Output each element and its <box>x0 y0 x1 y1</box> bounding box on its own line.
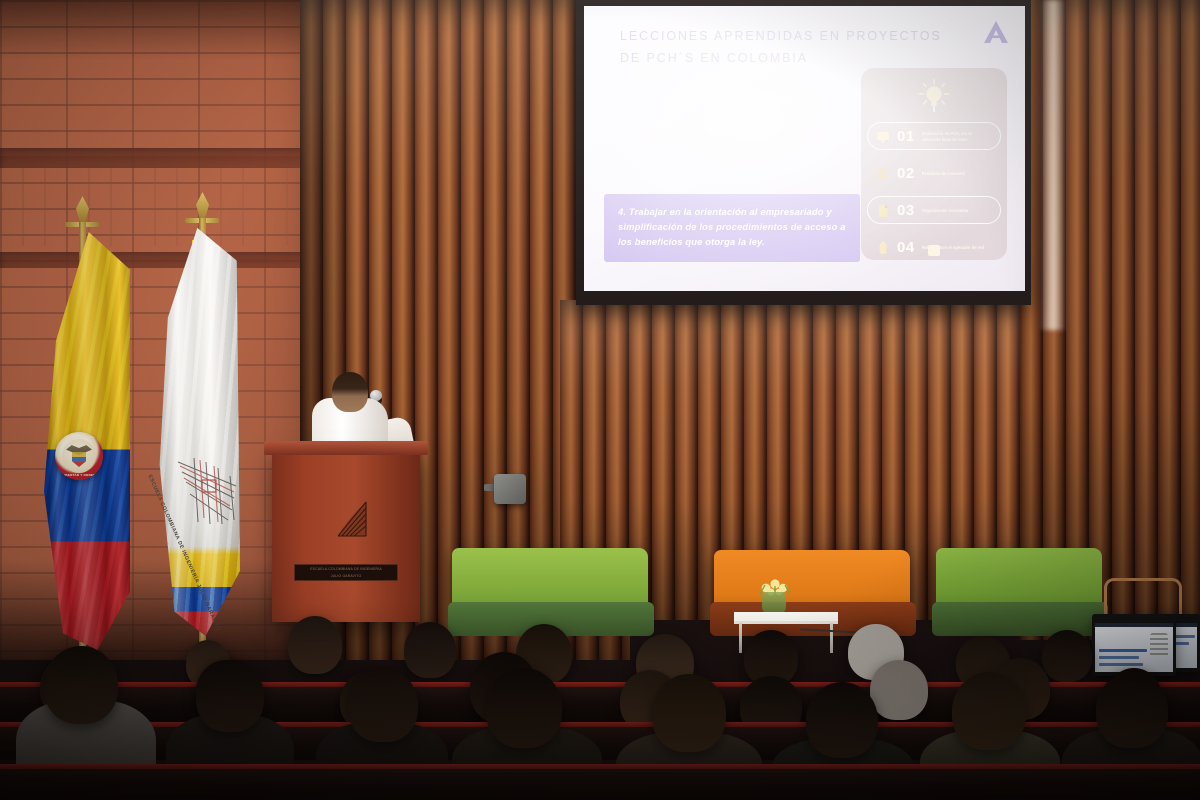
laptop-primary[interactable] <box>1092 614 1176 676</box>
bench-orange <box>714 550 910 610</box>
wall-light-column <box>1040 0 1066 330</box>
step-label: Evaluación de PCH, sin la adecuada línea… <box>922 131 986 143</box>
audience-head <box>196 660 264 732</box>
colombia-coat-of-arms: REPUBLICA DE COLOMBIA LIBERTAD Y ORDEN <box>55 432 103 480</box>
audience-head <box>1042 630 1092 682</box>
infographic-step: 02 Permisos de conexión <box>867 157 1001 190</box>
projection-screen: LECCIONES APRENDIDAS EN PROYECTOS DE PCH… <box>584 6 1025 291</box>
lattice-truss-logo <box>176 452 242 526</box>
audience-head <box>404 622 456 678</box>
lightbulb-icon <box>917 78 951 116</box>
brick-band-upper <box>0 148 330 168</box>
table-leg <box>830 623 833 653</box>
presenter-head <box>332 372 368 412</box>
coat-of-arms-top-text: REPUBLICA DE COLOMBIA <box>55 435 103 439</box>
projection-screen-frame: LECCIONES APRENDIDAS EN PROYECTOS DE PCH… <box>576 0 1031 305</box>
photograph-scene: LECCIONES APRENDIDAS EN PROYECTOS DE PCH… <box>0 0 1200 800</box>
laptop-stand <box>1104 578 1182 618</box>
step-label: Organización normativa <box>922 208 969 214</box>
bench-backrest <box>936 548 1102 610</box>
step-label: Permisos de conexión <box>922 171 965 177</box>
infographic-step: 03 Organización normativa <box>867 194 1001 227</box>
flower-vase <box>762 592 786 614</box>
podium-nameplate-line1: ESCUELA COLOMBIANA DE INGENIERIA <box>295 565 397 572</box>
audience-head <box>652 674 726 752</box>
audience-head <box>806 682 878 758</box>
lattice-truss-logo <box>336 498 370 540</box>
table-leg <box>739 623 742 653</box>
audience-head <box>952 672 1026 750</box>
infographic-step: 01 Evaluación de PCH, sin la adecuada lí… <box>867 120 1001 153</box>
monitor-icon <box>876 130 890 144</box>
bench-backrest <box>452 548 648 610</box>
podium-nameplate-line2: JULIO GARAVITO <box>295 572 397 579</box>
laptop-content-row <box>1099 663 1143 666</box>
step-number: 03 <box>897 203 915 218</box>
pipeline-icon <box>876 167 890 181</box>
slide-title: LECCIONES APRENDIDAS EN PROYECTOS DE PCH… <box>620 26 950 70</box>
coat-of-arms-bottom-text: LIBERTAD Y ORDEN <box>55 473 103 477</box>
projector-screen-crank <box>494 474 526 504</box>
podium-nameplate: ESCUELA COLOMBIANA DE INGENIERIA JULIO G… <box>294 564 398 581</box>
plug-icon <box>928 245 940 256</box>
battery-icon <box>876 241 890 255</box>
step-number: 04 <box>897 240 915 255</box>
audience-head <box>348 668 418 742</box>
slide-callout-text: 4. Trabajar en la orientación al empresa… <box>618 204 847 250</box>
brick-soldier-course <box>0 168 330 246</box>
bench-green-right <box>936 548 1102 610</box>
brick-top-shadow <box>0 0 330 60</box>
infographic-card: 01 Evaluación de PCH, sin la adecuada lí… <box>861 68 1007 260</box>
laptop-content-row <box>1099 656 1139 659</box>
audience-head <box>870 660 928 720</box>
bench-seat <box>932 602 1108 636</box>
triangular-a-logo <box>983 20 1009 44</box>
chair-trim <box>0 764 1200 769</box>
laptop-primary-display <box>1095 623 1173 672</box>
laptop-titlebar <box>1095 623 1173 627</box>
brick-band-lower <box>0 252 330 268</box>
laptop-content-row <box>1099 649 1147 652</box>
slide-callout-box: 4. Trabajar en la orientación al empresa… <box>604 194 860 262</box>
audience-head <box>288 616 342 674</box>
document-icon <box>876 204 890 218</box>
podium-top-surface <box>264 441 428 455</box>
audience-head <box>44 646 118 724</box>
bench-green-left <box>452 548 648 610</box>
audience-head <box>1096 672 1168 748</box>
audience-chair-row <box>0 764 1200 800</box>
step-number: 01 <box>897 129 915 144</box>
wooden-podium: ESCUELA COLOMBIANA DE INGENIERIA JULIO G… <box>272 452 420 622</box>
bench-backrest <box>714 550 910 610</box>
audience-head <box>486 668 562 748</box>
laptop-logo-icon <box>1150 633 1168 657</box>
step-number: 02 <box>897 166 915 181</box>
